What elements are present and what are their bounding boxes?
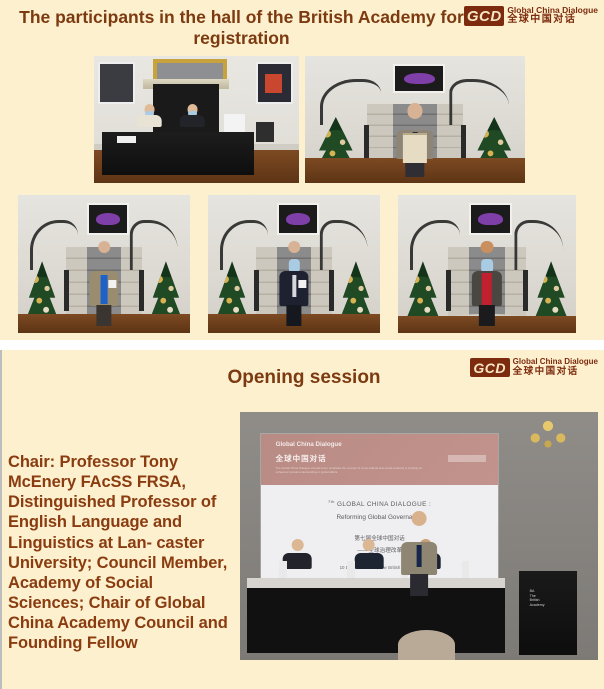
slide-ordinal: 7th xyxy=(328,499,335,504)
slide-brand-blurb: The Global China Dialogue annual forum e… xyxy=(276,466,427,475)
torso xyxy=(180,115,205,127)
panel-table-top xyxy=(247,578,505,588)
panel-table-skirt xyxy=(247,588,505,652)
av-stand xyxy=(256,122,274,142)
torso xyxy=(355,553,384,569)
trousers xyxy=(286,305,301,326)
gcd-logo: GCD Global China Dialogue 全球中国对话 xyxy=(470,358,598,377)
name-badge xyxy=(299,280,307,288)
boots xyxy=(479,305,495,326)
participant-dark-suit-photo xyxy=(208,195,380,333)
head xyxy=(291,539,303,551)
water-bottle xyxy=(279,561,286,578)
chair-at-lectern xyxy=(401,511,437,595)
newel-post-right xyxy=(139,270,144,311)
red-dress xyxy=(482,273,492,306)
water-bottle xyxy=(347,561,354,578)
head xyxy=(407,103,423,119)
trousers xyxy=(96,305,111,326)
registration-desk-photo xyxy=(94,56,299,183)
panelist-1 xyxy=(283,539,312,579)
torso xyxy=(283,553,312,569)
gcd-mark-icon: GCD xyxy=(470,358,510,377)
head xyxy=(411,511,426,526)
gcd-logo-words: Global China Dialogue 全球中国对话 xyxy=(507,6,598,25)
participant-staircase-photo xyxy=(305,56,525,183)
newel-post-left xyxy=(446,270,451,311)
slide-subtitle-english: Reforming Global Governance xyxy=(261,514,497,521)
participant-figure xyxy=(472,241,502,327)
purple-artwork xyxy=(393,64,445,93)
photo-scene: Global China Dialogue 全球中国对话 The Global … xyxy=(240,412,598,660)
registration-staff-1 xyxy=(137,104,162,134)
head xyxy=(98,241,110,253)
newel-post-left xyxy=(254,270,259,311)
trousers xyxy=(410,574,429,595)
newel-post-right xyxy=(329,270,334,311)
head xyxy=(288,241,300,253)
registration-staff-2 xyxy=(180,104,205,134)
slide-brand-english: Global China Dialogue xyxy=(276,441,342,448)
purple-artwork xyxy=(469,203,512,235)
slide-participants: The participants in the hall of the Brit… xyxy=(0,0,604,340)
gcd-logo-words: Global China Dialogue 全球中国对话 xyxy=(513,358,598,376)
photo-scene xyxy=(208,195,380,333)
purple-artwork xyxy=(87,203,129,235)
shirt xyxy=(416,545,421,567)
photo-scene xyxy=(305,56,525,183)
tote-bag xyxy=(403,133,427,163)
slide-header-band: Global China Dialogue 全球中国对话 The Global … xyxy=(261,434,497,485)
blue-shirt xyxy=(100,275,108,304)
newel-post-right xyxy=(523,270,528,311)
gcd-logo: GCD Global China Dialogue 全球中国对话 xyxy=(464,6,598,26)
water-bottle xyxy=(462,561,469,578)
name-badge xyxy=(109,280,117,288)
photo-scene xyxy=(18,195,190,333)
torso xyxy=(137,115,162,127)
participant-figure xyxy=(279,241,308,327)
head xyxy=(363,539,375,551)
photo-scene xyxy=(94,56,299,183)
head xyxy=(481,241,494,254)
slide-title-english: GLOBAL CHINA DIALOGUE : xyxy=(337,501,431,508)
photo-scene xyxy=(398,195,576,333)
slide-brand-chinese: 全球中国对话 xyxy=(276,453,327,464)
participant-figure xyxy=(89,241,118,327)
purple-artwork xyxy=(277,203,319,235)
slide-deck: The participants in the hall of the Brit… xyxy=(0,0,604,689)
gcd-logo-chinese: 全球中国对话 xyxy=(513,367,598,377)
shirt xyxy=(292,275,296,297)
newel-post-left xyxy=(64,270,69,311)
chair-description: Chair: Professor Tony McEnery FAcSS FRSA… xyxy=(8,452,230,653)
slide-1-title: The participants in the hall of the Brit… xyxy=(14,7,469,48)
registration-desk xyxy=(102,132,254,175)
participant-tan-jacket-photo xyxy=(18,195,190,333)
gcd-mark-icon: GCD xyxy=(464,6,504,26)
british-academy-lectern xyxy=(519,571,576,655)
gcd-logo-chinese: 全球中国对话 xyxy=(507,15,598,26)
slide-line-1: 7th GLOBAL CHINA DIALOGUE : xyxy=(261,499,497,508)
chandelier xyxy=(519,414,576,454)
opening-session-photo: Global China Dialogue 全球中国对话 The Global … xyxy=(240,412,598,660)
framed-picture-right xyxy=(256,62,293,104)
audience-member xyxy=(398,630,455,660)
framed-picture-left xyxy=(98,62,135,104)
participant-red-dress-photo xyxy=(398,195,576,333)
papers xyxy=(117,136,135,143)
slide-sponsor-logo-icon xyxy=(448,455,486,462)
desk-sign xyxy=(224,114,245,132)
panelist-2 xyxy=(355,539,384,579)
